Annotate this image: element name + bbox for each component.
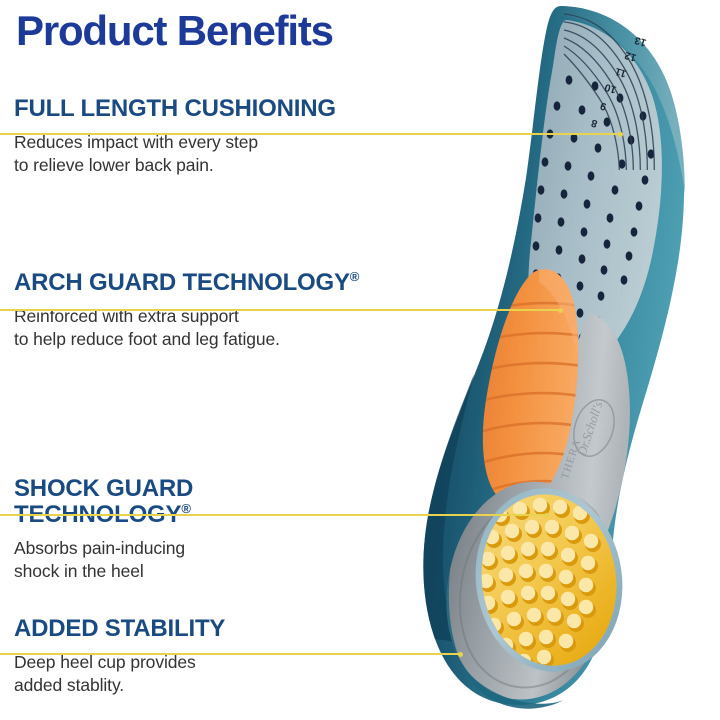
callout-line-3 <box>0 514 548 516</box>
benefit-heading-3-text: SHOCK GUARD TECHNOLOGY <box>14 475 193 528</box>
benefit-block-4: ADDED STABILITY Deep heel cup provides a… <box>14 616 225 697</box>
benefit-body-1: Reduces impact with every step to reliev… <box>14 131 336 178</box>
benefit-body-3: Absorbs pain-inducing shock in the heel <box>14 537 193 584</box>
page-title: Product Benefits <box>16 10 333 52</box>
benefit-heading-4-text: ADDED STABILITY <box>14 615 225 642</box>
callout-line-1 <box>0 133 622 135</box>
benefit-heading-1-text: FULL LENGTH CUSHIONING <box>14 95 336 122</box>
callout-line-2 <box>0 309 562 311</box>
benefit-heading-1: FULL LENGTH CUSHIONING <box>14 96 336 122</box>
benefit-body-2: Reinforced with extra support to help re… <box>14 305 359 352</box>
benefit-block-3: SHOCK GUARD TECHNOLOGY® Absorbs pain-ind… <box>14 450 193 583</box>
benefit-body-4: Deep heel cup provides added stablity. <box>14 651 225 698</box>
benefit-heading-4: ADDED STABILITY <box>14 616 225 642</box>
benefit-block-1: FULL LENGTH CUSHIONING Reduces impact wi… <box>14 96 336 177</box>
benefit-heading-2-text: ARCH GUARD TECHNOLOGY <box>14 269 350 296</box>
benefit-heading-2: ARCH GUARD TECHNOLOGY® <box>14 270 359 296</box>
benefit-heading-3: SHOCK GUARD TECHNOLOGY® <box>14 475 193 528</box>
infographic-canvas: Product Benefits <box>0 0 720 720</box>
benefit-heading-2-registered: ® <box>350 269 359 284</box>
callout-line-4 <box>0 653 462 655</box>
insole-product-image: 13 12 11 10 9 8 <box>398 0 720 720</box>
